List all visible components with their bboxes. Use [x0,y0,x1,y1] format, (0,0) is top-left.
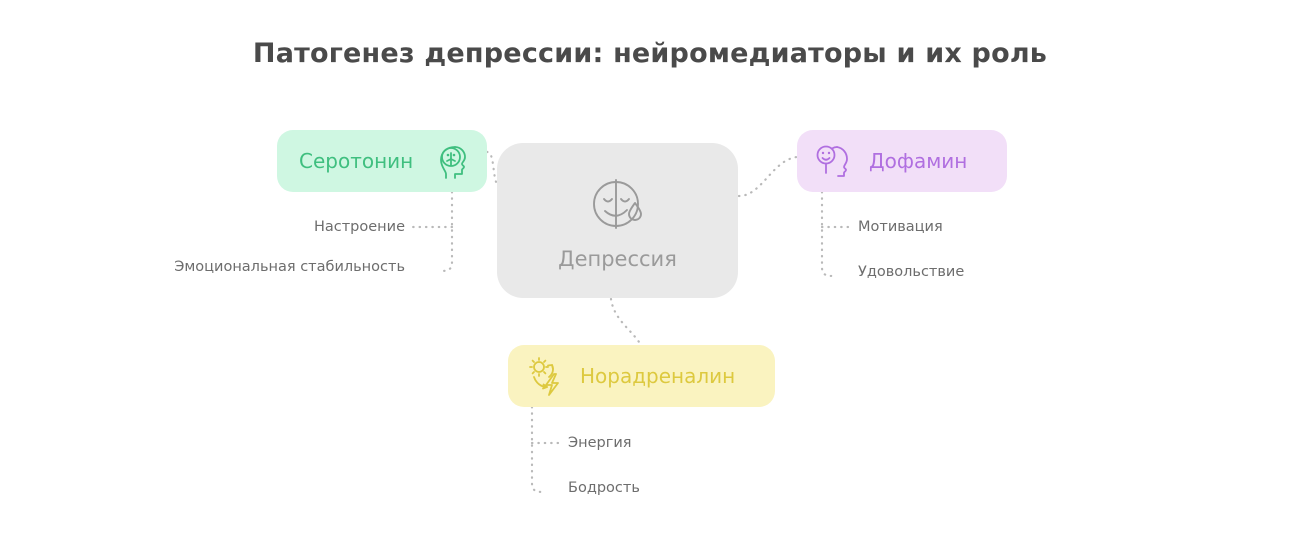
node-noradrenalin[interactable]: Норадреналин [508,345,775,407]
node-depression-label: Депрессия [558,247,677,271]
connector-center-to-dopamine [739,157,797,196]
node-depression[interactable]: Депрессия [497,143,738,298]
sublabel-dopamine-pleasure: Удовольствие [858,264,964,280]
node-serotonin-label: Серотонин [299,149,413,173]
sublabel-serotonin-emotional-stability: Эмоциональная стабильность [145,259,405,275]
head-brain-face-icon [429,141,469,181]
sublabel-dopamine-motivation: Мотивация [858,219,943,235]
node-dopamine-label: Дофамин [869,149,967,173]
connector-center-to-noradrenalin [611,299,641,345]
sad-happy-face-teardrop-icon [585,171,651,237]
connector-dopamine-trunk [822,192,834,276]
diagram-canvas: Патогенез депрессии: нейромедиаторы и их… [0,0,1300,546]
page-title: Патогенез депрессии: нейромедиаторы и их… [0,38,1300,69]
node-noradrenalin-label: Норадреналин [580,364,735,388]
node-dopamine[interactable]: Дофамин [797,130,1007,192]
sublabel-serotonin-mood: Настроение [215,219,405,235]
sublabel-noradrenalin-energy: Энергия [568,435,632,451]
sublabel-noradrenalin-vigor: Бодрость [568,480,640,496]
node-serotonin[interactable]: Серотонин [277,130,487,192]
head-smiley-face-icon [813,140,855,182]
connector-serotonin-trunk [440,192,452,271]
sun-lightning-bolt-icon [524,354,568,398]
connector-noradrenalin-trunk [532,407,544,492]
